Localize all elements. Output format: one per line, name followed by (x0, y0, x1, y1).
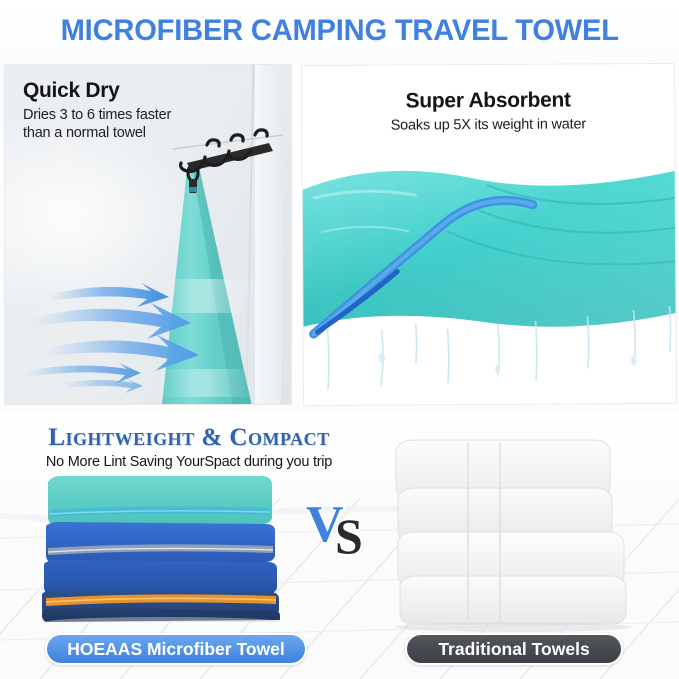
wet-towel-illustration (301, 160, 677, 402)
quick-dry-text-block: Quick Dry Dries 3 to 6 times faster than… (23, 79, 171, 143)
badge-hoeaas-microfiber-towel[interactable]: HOEAAS Microfiber Towel (45, 633, 307, 665)
product-infographic: MICROFIBER CAMPING TRAVEL TOWEL (0, 0, 679, 679)
quick-dry-subtitle-line-1: Dries 3 to 6 times faster (23, 106, 171, 124)
wall-hook-rack-icon (173, 127, 283, 183)
microfiber-towel-stack (26, 474, 286, 622)
header-banner: MICROFIBER CAMPING TRAVEL TOWEL (0, 0, 679, 62)
versus-label: V S (305, 495, 375, 557)
panel-quick-dry: Quick Dry Dries 3 to 6 times faster than… (4, 64, 292, 405)
super-absorbent-title: Super Absorbent (302, 88, 674, 114)
badge-traditional-towels[interactable]: Traditional Towels (405, 633, 623, 665)
quick-dry-title: Quick Dry (23, 79, 171, 103)
comparison-title: Lightweight & Compact (14, 424, 364, 452)
quick-dry-subtitle: Dries 3 to 6 times faster than a normal … (23, 106, 171, 143)
quick-dry-subtitle-line-2: than a normal towel (23, 124, 171, 142)
comparison-subtitle: No More Lint Saving YourSpact during you… (14, 454, 364, 470)
vs-letter-s: S (335, 508, 363, 557)
panel-super-absorbent: Super Absorbent Soaks up 5X its weight i… (301, 63, 677, 406)
super-absorbent-text-block: Super Absorbent Soaks up 5X its weight i… (302, 88, 674, 134)
super-absorbent-subtitle: Soaks up 5X its weight in water (302, 116, 674, 134)
comparison-text-block: Lightweight & Compact No More Lint Savin… (14, 424, 364, 470)
vs-glyph-icon: V S (305, 495, 375, 557)
traditional-towel-stack (382, 432, 672, 632)
page-title: MICROFIBER CAMPING TRAVEL TOWEL (60, 14, 618, 48)
airflow-arrows-icon (23, 275, 233, 405)
